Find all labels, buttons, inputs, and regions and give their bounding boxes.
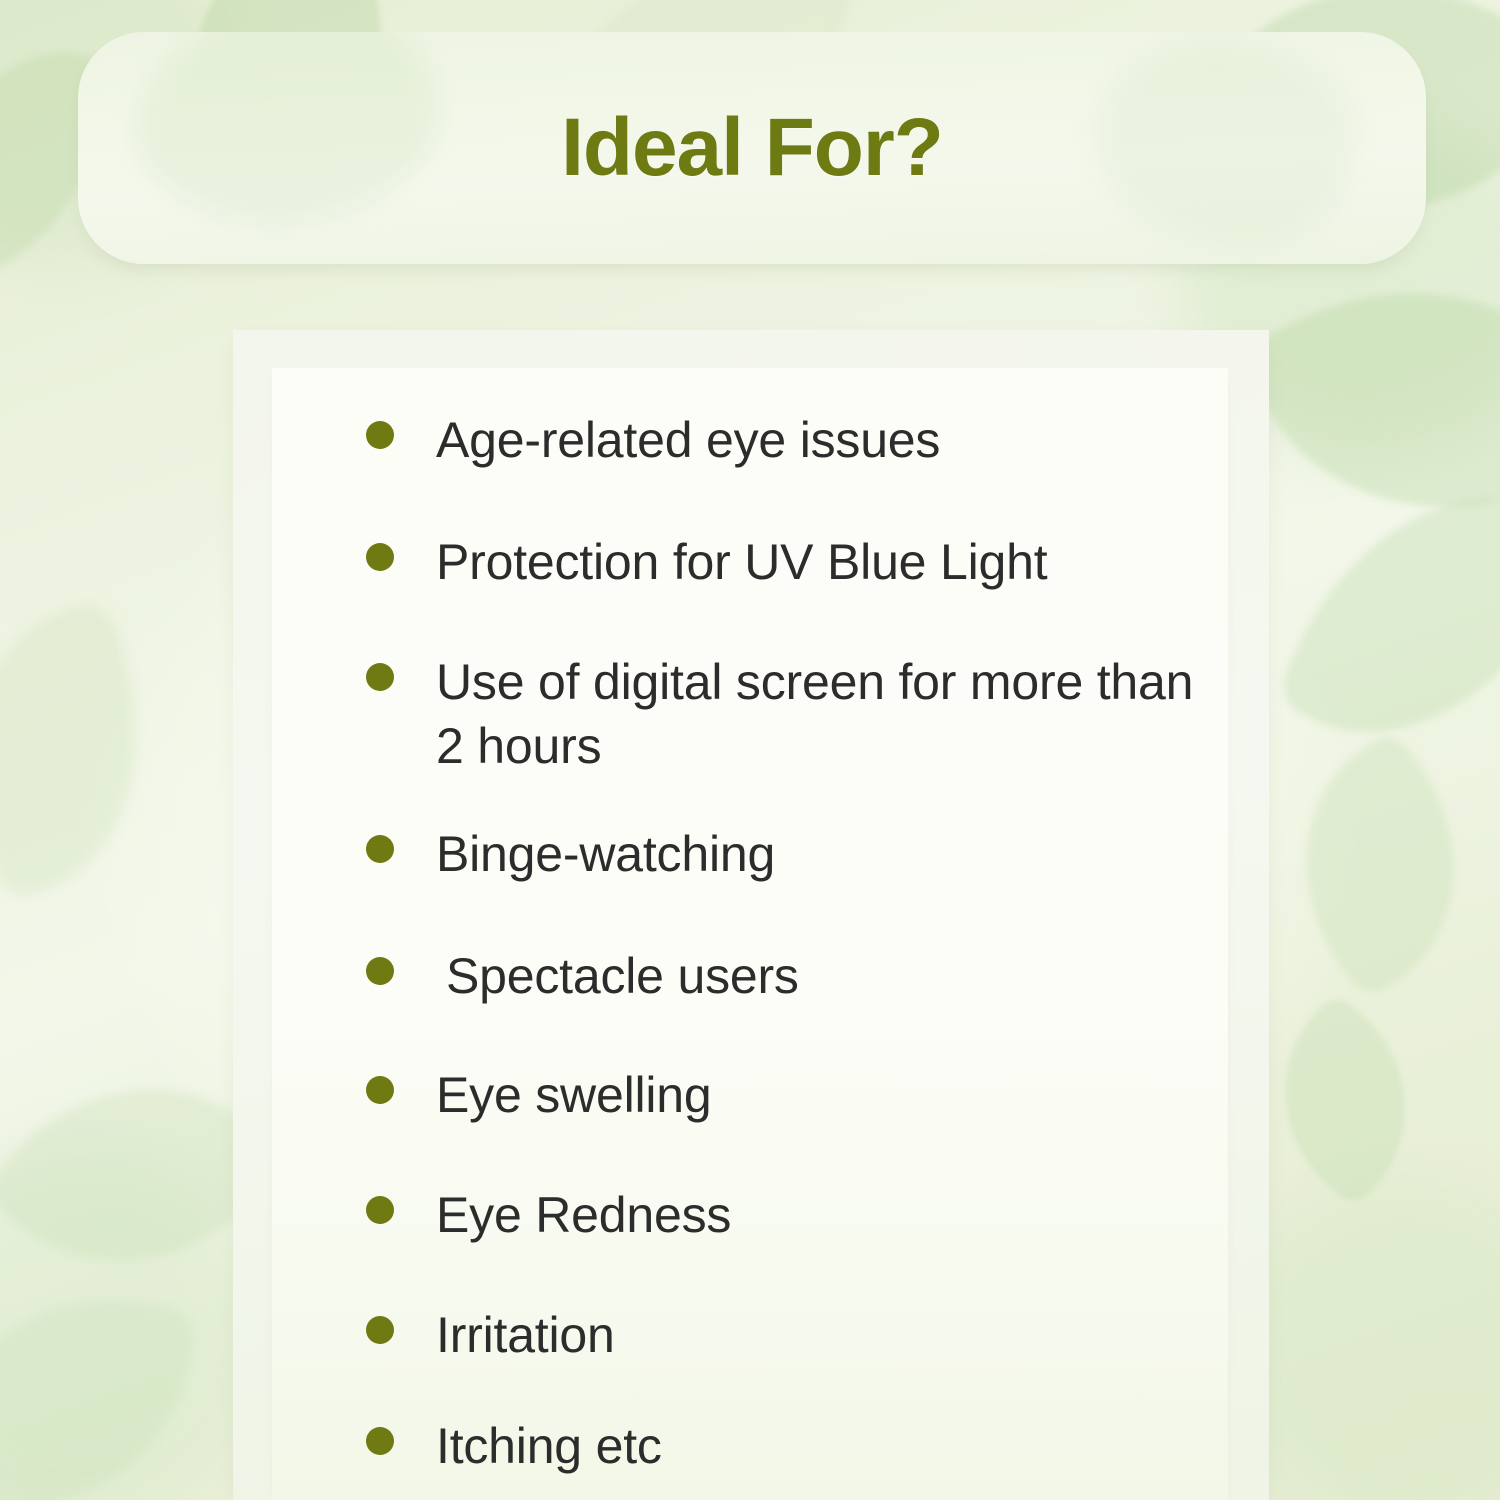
list-item: Binge-watching (272, 822, 1204, 886)
list-item: Irritation (272, 1303, 1204, 1367)
page-title: Ideal For? (561, 107, 943, 189)
list-item: Age-related eye issues (272, 408, 1204, 472)
list-item: Eye Redness (272, 1183, 1204, 1247)
wash-bottom-right-blob (1230, 1180, 1500, 1500)
bullet-dot-icon (366, 421, 394, 449)
leaf-bottom-left-icon (0, 1271, 198, 1500)
slide-canvas: Ideal For? Age-related eye issuesProtect… (0, 0, 1500, 1500)
list-item: Use of digital screen for more than 2 ho… (272, 650, 1204, 778)
bullet-dot-icon (366, 543, 394, 571)
list-item: Protection for UV Blue Light (272, 530, 1204, 594)
content-card-outer: Age-related eye issuesProtection for UV … (233, 330, 1269, 1500)
leaf-right-upper-icon (1238, 217, 1500, 582)
bullet-dot-icon (366, 1316, 394, 1344)
wash-bottom-left-blob (0, 1150, 260, 1500)
list-item: Itching etc (272, 1414, 1204, 1478)
list-item-label: Protection for UV Blue Light (436, 530, 1047, 594)
list-item: Eye swelling (272, 1063, 1204, 1127)
leaf-right-mid-icon (1272, 439, 1500, 792)
list-item: Spectacle users (272, 944, 1204, 1008)
list-item-label: Itching etc (436, 1414, 662, 1478)
list-item-label: Binge-watching (436, 822, 775, 886)
title-banner: Ideal For? (78, 32, 1426, 264)
list-item-label: Age-related eye issues (436, 408, 940, 472)
list-item-label: Eye Redness (436, 1183, 731, 1247)
bullet-dot-icon (366, 1196, 394, 1224)
bullet-dot-icon (366, 835, 394, 863)
bullet-dot-icon (366, 1427, 394, 1455)
content-card-inner: Age-related eye issuesProtection for UV … (272, 368, 1228, 1500)
list-item-label: Eye swelling (436, 1063, 712, 1127)
bullet-dot-icon (366, 663, 394, 691)
list-item-label: Spectacle users (446, 944, 799, 1008)
list-item-label: Irritation (436, 1303, 615, 1367)
leaf-right-lower-icon (1246, 727, 1500, 1002)
bullet-dot-icon (366, 957, 394, 985)
bullet-dot-icon (366, 1076, 394, 1104)
leaf-left-mid-icon (0, 597, 186, 903)
list-item-label: Use of digital screen for more than 2 ho… (436, 650, 1196, 778)
